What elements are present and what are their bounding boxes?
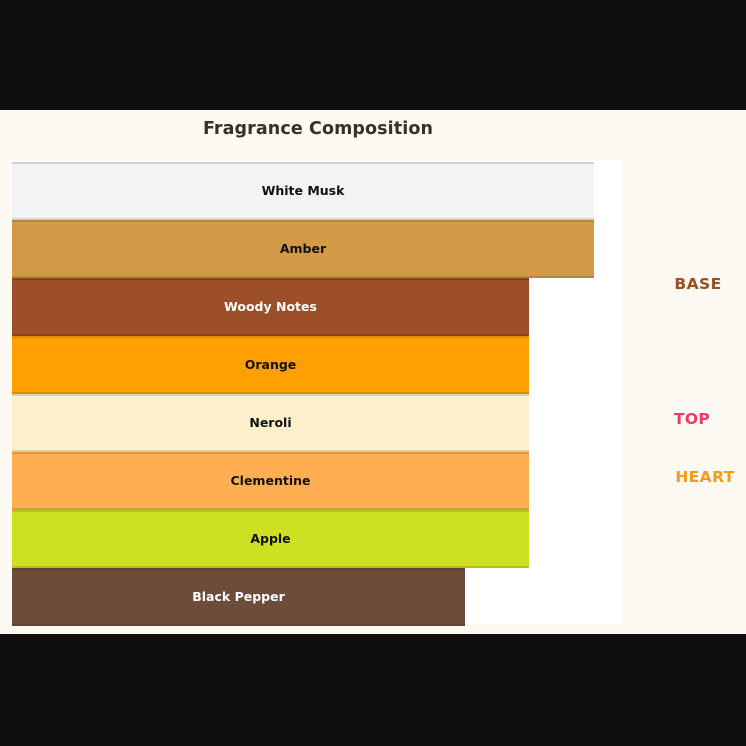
bar-segment[interactable] [12,336,529,394]
chart-figure: Fragrance Composition White MuskAmberWoo… [0,110,746,634]
letterbox-top [0,0,746,110]
bar-row[interactable]: Orange [12,336,529,394]
screenshot-stage: Fragrance Composition White MuskAmberWoo… [0,0,746,746]
stage-annotation-base: BASE [638,275,746,293]
bar-row[interactable]: Apple [12,510,529,568]
bar-row[interactable]: White Musk [12,162,594,220]
stage-annotation-top: TOP [632,410,746,428]
bar-row[interactable]: Clementine [12,452,529,510]
bar-row[interactable]: Woody Notes [12,278,529,336]
chart-title: Fragrance Composition [0,119,636,139]
letterbox-bottom [0,634,746,746]
bar-row[interactable]: Amber [12,220,594,278]
bar-segment[interactable] [12,452,529,510]
bar-segment[interactable] [12,162,594,220]
plot-area: White MuskAmberWoody NotesOrangeNeroliCl… [12,160,623,624]
bar-segment[interactable] [12,394,529,452]
bar-segment[interactable] [12,278,529,336]
bar-segment[interactable] [12,568,465,626]
bar-row[interactable]: Neroli [12,394,529,452]
bar-segment[interactable] [12,510,529,568]
stage-annotation-heart: HEART [645,468,746,486]
bar-row[interactable]: Black Pepper [12,568,465,626]
bar-segment[interactable] [12,220,594,278]
